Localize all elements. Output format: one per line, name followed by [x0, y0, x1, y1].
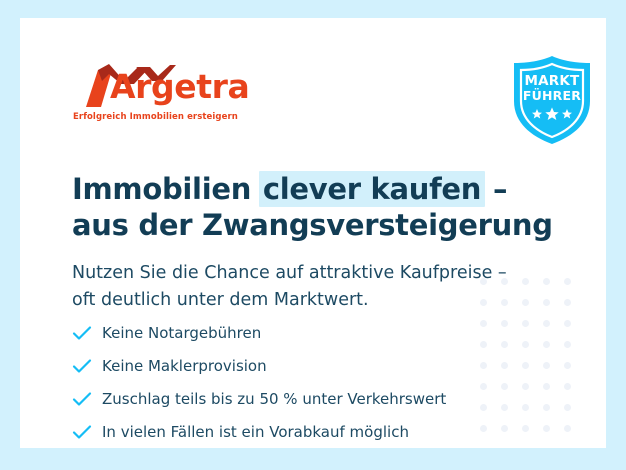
headline-highlight: clever kaufen [259, 171, 485, 207]
check-icon [72, 391, 102, 407]
benefits-list: Keine Notargebühren Keine Maklerprovisio… [72, 316, 542, 448]
dot [543, 362, 550, 369]
market-leader-badge: MARKT FÜHRER [509, 54, 595, 146]
check-icon [72, 424, 102, 440]
list-item: In vielen Fällen ist ein Vorabkauf mögli… [72, 415, 542, 448]
headline-line-1: Immobilien clever kaufen – [72, 171, 552, 207]
dot [543, 404, 550, 411]
check-icon [72, 325, 102, 341]
subheadline-line-2: oft deutlich unter dem Marktwert. [72, 287, 572, 314]
shield-icon [509, 54, 595, 146]
dot [564, 362, 571, 369]
argetra-logo[interactable]: Argetra Erfolgreich Immobilien ersteiger… [72, 62, 272, 128]
dot [564, 404, 571, 411]
dot [564, 425, 571, 432]
headline-prefix: Immobilien [72, 172, 261, 206]
dot [543, 383, 550, 390]
benefit-label: Keine Maklerprovision [102, 356, 267, 376]
dot [543, 320, 550, 327]
logo-tagline: Erfolgreich Immobilien ersteigern [73, 112, 238, 122]
dot [564, 383, 571, 390]
page-title: Immobilien clever kaufen – aus der Zwang… [72, 171, 552, 243]
dot [543, 425, 550, 432]
benefit-label: Keine Notargebühren [102, 323, 261, 343]
promo-card: Argetra Erfolgreich Immobilien ersteiger… [20, 18, 606, 448]
list-item: Keine Maklerprovision [72, 349, 542, 382]
list-item: Keine Notargebühren [72, 316, 542, 349]
subheadline: Nutzen Sie die Chance auf attraktive Kau… [72, 260, 572, 314]
headline-suffix: – [483, 172, 507, 206]
subheadline-line-1: Nutzen Sie die Chance auf attraktive Kau… [72, 260, 572, 287]
logo-wordmark: Argetra [110, 70, 249, 103]
list-item: Zuschlag teils bis zu 50 % unter Verkehr… [72, 382, 542, 415]
benefit-label: Zuschlag teils bis zu 50 % unter Verkehr… [102, 389, 446, 409]
dot [564, 320, 571, 327]
dot [564, 341, 571, 348]
dot [543, 341, 550, 348]
check-icon [72, 358, 102, 374]
benefit-label: In vielen Fällen ist ein Vorabkauf mögli… [102, 422, 409, 442]
promo-banner-frame: Argetra Erfolgreich Immobilien ersteiger… [0, 0, 626, 470]
headline-line-2: aus der Zwangsversteigerung [72, 207, 552, 243]
